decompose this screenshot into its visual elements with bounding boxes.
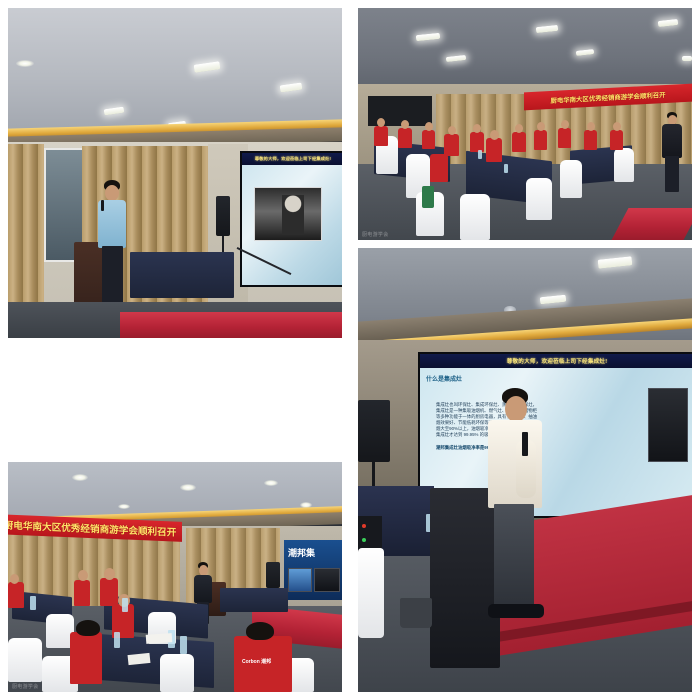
chair [160,654,194,692]
attendee-red-vest [430,154,448,182]
product-image [648,388,688,462]
projection-screen: 尊敬的大师，欢迎莅临上司下经集成灶! [240,151,342,287]
attendee-red-vest [70,632,102,684]
equipment-table [220,588,288,612]
ceiling-light [682,56,692,61]
panel-watermark: 厨电游学会 [362,231,389,238]
microphone [522,432,528,456]
pa-speaker [216,196,230,236]
screen-banner-text: 尊敬的大师，欢迎莅临上司下经集成灶! [420,354,692,368]
equipment-table [130,252,234,298]
covered-chair [358,548,384,638]
head [78,570,88,581]
chair [8,638,42,682]
screen-slide-text: 潮邦集 [288,546,315,559]
water-bottle [478,150,482,159]
attendee-red-vest-corbon: Corbon 潮邦 [234,636,292,692]
shoes [488,604,544,618]
pa-speaker-left [358,400,390,462]
water-bottle [180,636,187,654]
trash-bin-green [422,186,434,208]
av-led-green [362,538,366,542]
event-banner-text: 厨电华南大区优秀经销商游学会顺利召开 [550,89,665,104]
head [613,122,621,131]
presenter [94,180,134,322]
panel-top-left: 尊敬的大师，欢迎莅临上司下经集成灶! [8,8,342,338]
head [448,126,456,135]
chair [560,160,582,198]
av-led-red [362,524,366,528]
ceiling [358,8,692,90]
document-sheet [146,633,173,644]
ceiling [8,8,342,132]
red-carpet-front [120,312,342,338]
water-bottle [30,596,36,610]
panel-bottom-right: 尊敬的大师，欢迎莅临上司下经集成灶! 什么是集成灶 集成灶也叫环保灶、集成环保灶… [358,248,692,692]
attendee-red-vest [470,132,484,152]
host-in-suit [660,112,684,196]
chair [614,148,634,182]
vest-logo: Corbon 潮邦 [242,658,271,665]
attendee-red-vest [534,130,547,150]
panel-bottom-left: 厨电华南大区优秀经销商游学会顺利召开 潮邦集 [8,462,342,692]
event-banner-text: 厨电华南大区优秀经销商游学会顺利召开 [8,517,176,538]
head [10,574,19,584]
torso-suit [194,575,212,603]
hair [76,620,100,636]
head [425,122,433,131]
water-bottle [122,598,128,612]
screen-banner-text: 尊敬的大师，欢迎莅临上司下经集成灶! [242,153,342,165]
attendee-red-vest [444,134,459,156]
downlight [16,60,34,67]
slide-heading: 什么是集成灶 [426,374,462,383]
pa-speaker [266,562,280,588]
attendee-red-vest [74,580,90,606]
trash-bin [400,598,432,628]
head [561,120,569,129]
downlight [264,480,278,486]
head [587,122,595,131]
portrait-figure [282,195,304,235]
torso-suit [662,124,682,158]
head [377,118,385,127]
attendee-red-vest [486,138,502,162]
legs-trousers [494,504,534,610]
head [537,122,545,131]
product-image [314,568,340,592]
attendee-red-vest [584,130,597,150]
head [473,124,481,133]
attendee-red-vest [8,582,24,608]
downlight [118,504,130,509]
attendee-red-vest [610,130,623,150]
attendee-red-vest [100,578,118,606]
downlight [180,484,196,491]
head [505,396,527,422]
attendee-red-vest [374,126,388,146]
attendee-red-vest [422,130,435,149]
presenter [486,388,548,628]
attendee-red-vest [398,128,412,148]
head [105,185,119,201]
head [401,120,409,129]
microphone [101,200,104,211]
downlight [72,474,88,481]
hair [246,622,274,640]
photo-collage: 尊敬的大师，欢迎莅临上司下经集成灶! [0,0,700,700]
chair [460,194,490,240]
panel-watermark: 厨电游学会 [12,683,39,690]
projection-screen: 潮邦集 [284,540,342,600]
attendee-red-vest [512,132,526,152]
water-bottle [504,164,508,173]
product-image [288,568,312,592]
attendee-red-vest [558,128,571,148]
chair [526,178,552,220]
water-bottle [114,632,120,648]
panel-top-right: 厨电华南大区优秀经销商游学会顺利召开 [358,8,692,240]
legs [665,156,679,192]
head [515,124,523,133]
head [490,130,499,140]
head [104,568,115,580]
